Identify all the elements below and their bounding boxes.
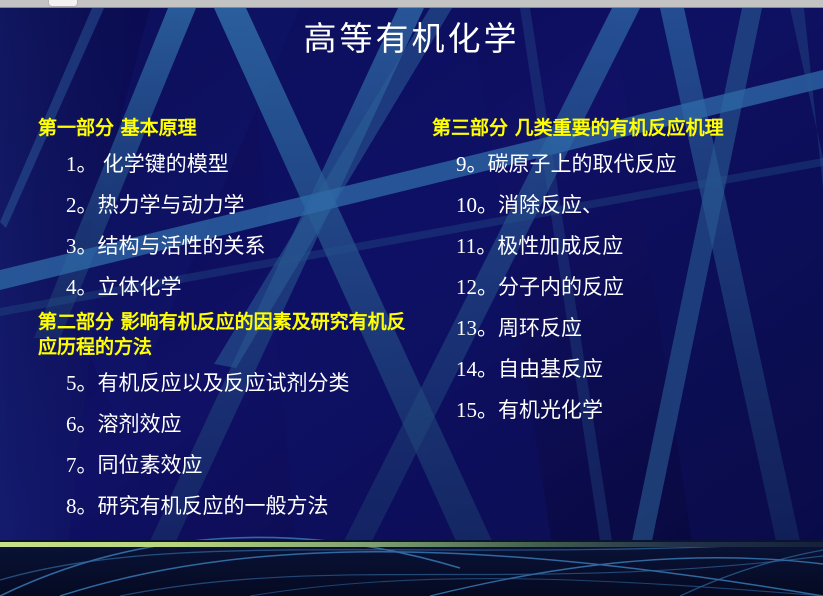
list-item[interactable]: 13。周环反应 bbox=[432, 308, 817, 349]
list-item[interactable]: 11。极性加成反应 bbox=[432, 226, 817, 267]
list-item[interactable]: 15。有机光化学 bbox=[432, 390, 817, 431]
content-column-left: 第一部分 基本原理 1。 化学键的模型 2。热力学与动力学 3。结构与活性的关系… bbox=[38, 116, 423, 529]
slide-canvas: 高等有机化学 第一部分 基本原理 1。 化学键的模型 2。热力学与动力学 3。结… bbox=[0, 8, 823, 596]
list-item-label: 同位素效应 bbox=[98, 453, 203, 477]
list-item-label: 研究有机反应的一般方法 bbox=[98, 494, 329, 518]
list-item-label: 自由基反应 bbox=[498, 357, 603, 381]
list-item-number: 3。 bbox=[66, 234, 98, 258]
window-tab-handle[interactable] bbox=[48, 0, 78, 7]
footer-divider-rule bbox=[0, 540, 823, 547]
window-top-bar bbox=[0, 0, 823, 8]
list-item[interactable]: 5。有机反应以及反应试剂分类 bbox=[38, 363, 423, 404]
list-item[interactable]: 4。立体化学 bbox=[38, 267, 423, 308]
list-item[interactable]: 1。 化学键的模型 bbox=[38, 144, 423, 185]
section-heading-part-3: 第三部分 几类重要的有机反应机理 bbox=[432, 116, 817, 141]
section-heading-part-2: 第二部分 影响有机反应的因素及研究有机反应历程的方法 bbox=[38, 310, 423, 360]
list-item[interactable]: 6。溶剂效应 bbox=[38, 404, 423, 445]
list-item-label: 热力学与动力学 bbox=[98, 193, 245, 217]
list-item-label: 立体化学 bbox=[98, 275, 182, 299]
list-item-label: 化学键的模型 bbox=[98, 152, 229, 176]
list-item-number: 8。 bbox=[66, 494, 98, 518]
list-item[interactable]: 2。热力学与动力学 bbox=[38, 185, 423, 226]
list-item-label: 分子内的反应 bbox=[498, 275, 624, 299]
slide-content: 高等有机化学 第一部分 基本原理 1。 化学键的模型 2。热力学与动力学 3。结… bbox=[0, 8, 823, 596]
list-item-number: 6。 bbox=[66, 412, 98, 436]
list-item-label: 碳原子上的取代反应 bbox=[488, 152, 677, 176]
list-item[interactable]: 14。自由基反应 bbox=[432, 349, 817, 390]
list-item-label: 结构与活性的关系 bbox=[98, 234, 266, 258]
list-item-number: 5。 bbox=[66, 371, 98, 395]
section-heading-part-1: 第一部分 基本原理 bbox=[38, 116, 423, 141]
list-item-number: 15。 bbox=[456, 398, 498, 422]
content-column-right: 第三部分 几类重要的有机反应机理 9。碳原子上的取代反应 10。消除反应、 11… bbox=[432, 116, 817, 433]
list-item-number: 12。 bbox=[456, 275, 498, 299]
list-item-label: 有机光化学 bbox=[498, 398, 603, 422]
list-item[interactable]: 9。碳原子上的取代反应 bbox=[432, 144, 817, 185]
list-item[interactable]: 3。结构与活性的关系 bbox=[38, 226, 423, 267]
list-item[interactable]: 8。研究有机反应的一般方法 bbox=[38, 486, 423, 527]
list-item-label: 消除反应、 bbox=[498, 193, 603, 217]
list-item[interactable]: 7。同位素效应 bbox=[38, 445, 423, 486]
list-item-label: 极性加成反应 bbox=[497, 234, 623, 258]
list-item-number: 14。 bbox=[456, 357, 498, 381]
topic-list-part-3: 9。碳原子上的取代反应 10。消除反应、 11。极性加成反应 12。分子内的反应… bbox=[432, 144, 817, 431]
presentation-slide: 高等有机化学 第一部分 基本原理 1。 化学键的模型 2。热力学与动力学 3。结… bbox=[0, 0, 823, 596]
slide-title: 高等有机化学 bbox=[0, 20, 823, 60]
list-item-number: 7。 bbox=[66, 453, 98, 477]
list-item-number: 9。 bbox=[456, 152, 488, 176]
list-item-number: 11。 bbox=[456, 234, 497, 258]
topic-list-part-2: 5。有机反应以及反应试剂分类 6。溶剂效应 7。同位素效应 8。研究有机反应的一… bbox=[38, 363, 423, 527]
list-item[interactable]: 12。分子内的反应 bbox=[432, 267, 817, 308]
list-item-number: 13。 bbox=[456, 316, 498, 340]
list-item-number: 4。 bbox=[66, 275, 98, 299]
list-item-number: 1。 bbox=[66, 152, 98, 176]
list-item-label: 溶剂效应 bbox=[98, 412, 182, 436]
list-item-label: 周环反应 bbox=[498, 316, 582, 340]
list-item-number: 2。 bbox=[66, 193, 98, 217]
list-item-label: 有机反应以及反应试剂分类 bbox=[98, 371, 350, 395]
topic-list-part-1: 1。 化学键的模型 2。热力学与动力学 3。结构与活性的关系 4。立体化学 bbox=[38, 144, 423, 308]
list-item-number: 10。 bbox=[456, 193, 498, 217]
list-item[interactable]: 10。消除反应、 bbox=[432, 185, 817, 226]
